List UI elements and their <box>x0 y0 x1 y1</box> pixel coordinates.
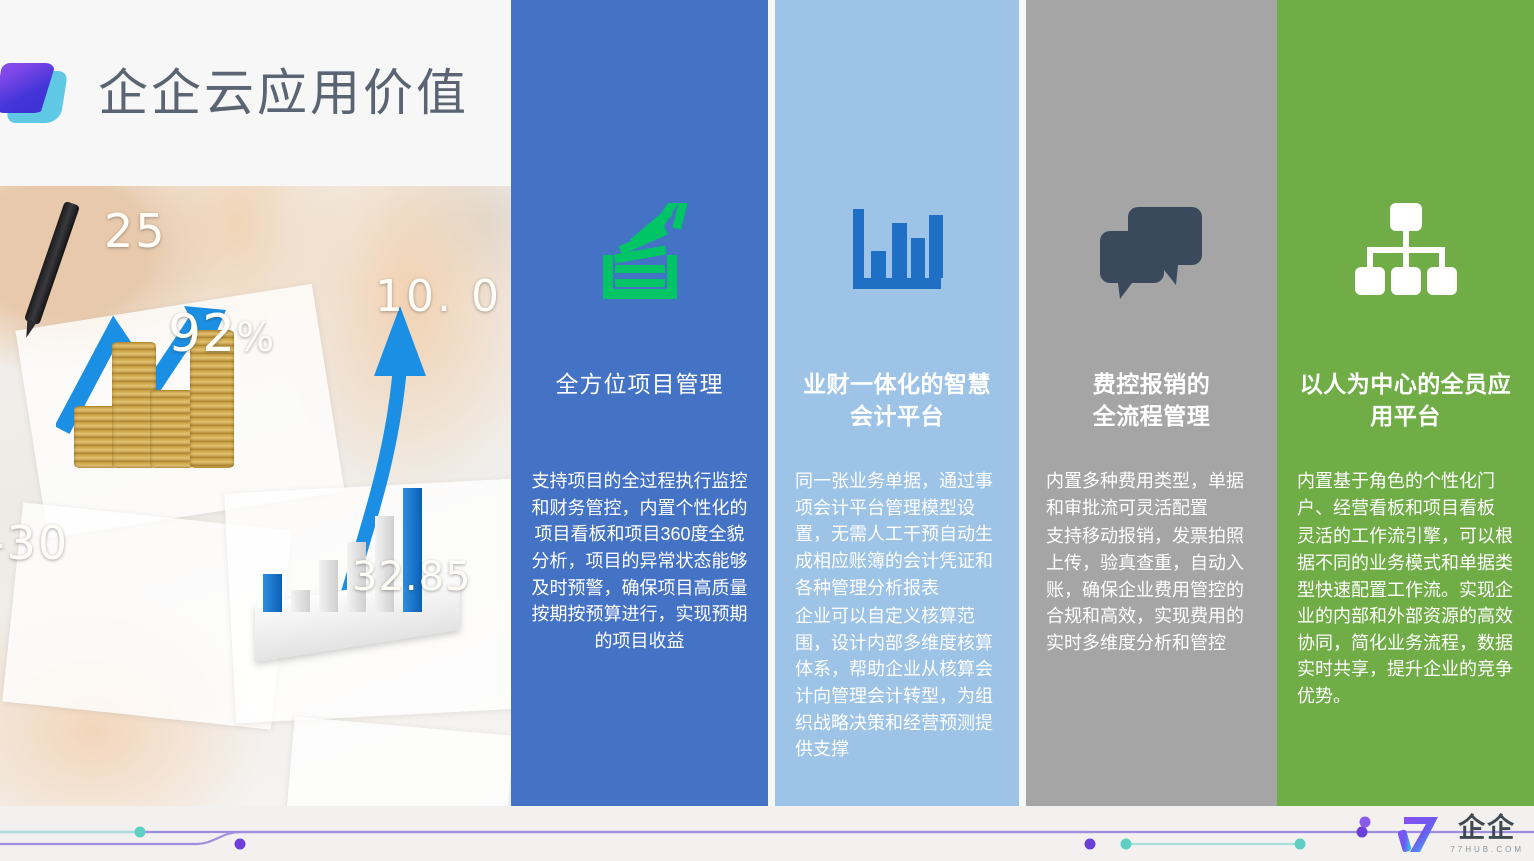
page-title: 企企云应用价值 <box>98 68 469 118</box>
column-body: 支持项目的全过程执行监控和财务管控，内置个性化的项目看板和项目360度全貌分析，… <box>511 468 768 656</box>
photo-number-100: 10. 0 <box>375 271 502 322</box>
column-title: 全方位项目管理 <box>511 368 768 400</box>
header: 企企云应用价值 <box>0 0 511 186</box>
column-title: 业财一体化的智慧 会计平台 <box>775 368 1019 432</box>
column-expense-control[interactable]: 费控报销的 全流程管理 内置多种费用类型，单据和审批流可灵活配置 支持移动报销，… <box>1026 0 1277 806</box>
column-title: 费控报销的 全流程管理 <box>1026 368 1277 432</box>
slide-root: 企企云应用价值 <box>0 0 1534 861</box>
photo-number-92pct: 92% <box>168 304 275 364</box>
column-project-management[interactable]: 全方位项目管理 支持项目的全过程执行监控和财务管控，内置个性化的项目看板和项目3… <box>511 0 768 806</box>
left-panel: 企企云应用价值 <box>0 0 511 806</box>
brand-name-cn: 企企 <box>1458 815 1516 842</box>
column-accounting-platform[interactable]: 业财一体化的智慧 会计平台 同一张业务单据，通过事项会计平台管理模型设置，无需人… <box>775 0 1019 806</box>
footer: 企企 77HUB.COM <box>0 806 1534 861</box>
column-body: 内置基于角色的个性化门户、经营看板和项目看板 灵活的工作流引擎，可以根据不同的业… <box>1277 468 1534 712</box>
seven-gradient-logo-icon <box>1398 814 1442 854</box>
column-people-centric-platform[interactable]: 以人为中心的全员应 用平台 内置基于角色的个性化门户、经营看板和项目看板 灵活的… <box>1277 0 1534 806</box>
business-analytics-photo: 25 10. 0 92% -30 32.85 <box>0 186 511 806</box>
org-chart-icon <box>1277 196 1534 306</box>
value-columns: 全方位项目管理 支持项目的全过程执行监控和财务管控，内置个性化的项目看板和项目3… <box>511 0 1534 806</box>
column-title: 以人为中心的全员应 用平台 <box>1277 368 1534 432</box>
photo-number-25: 25 <box>104 204 167 258</box>
column-body: 内置多种费用类型，单据和审批流可灵活配置 支持移动报销，发票拍照上传，验真查重，… <box>1026 468 1277 658</box>
bar-chart-icon <box>775 196 1019 306</box>
column-body: 同一张业务单据，通过事项会计平台管理模型设置，无需人工干预自动生成相应账簿的会计… <box>775 468 1019 765</box>
qiqi-cloud-logo-icon <box>0 55 68 131</box>
photo-number-3285: 32.85 <box>352 554 472 600</box>
brand-logo: 企企 77HUB.COM <box>1398 812 1524 856</box>
speech-bubbles-icon <box>1026 196 1277 306</box>
decorative-circuit-lines <box>0 806 1534 861</box>
photo-number-minus30: -30 <box>0 516 69 570</box>
stacked-fan-icon <box>511 196 768 306</box>
brand-name-en: 77HUB.COM <box>1450 845 1524 854</box>
